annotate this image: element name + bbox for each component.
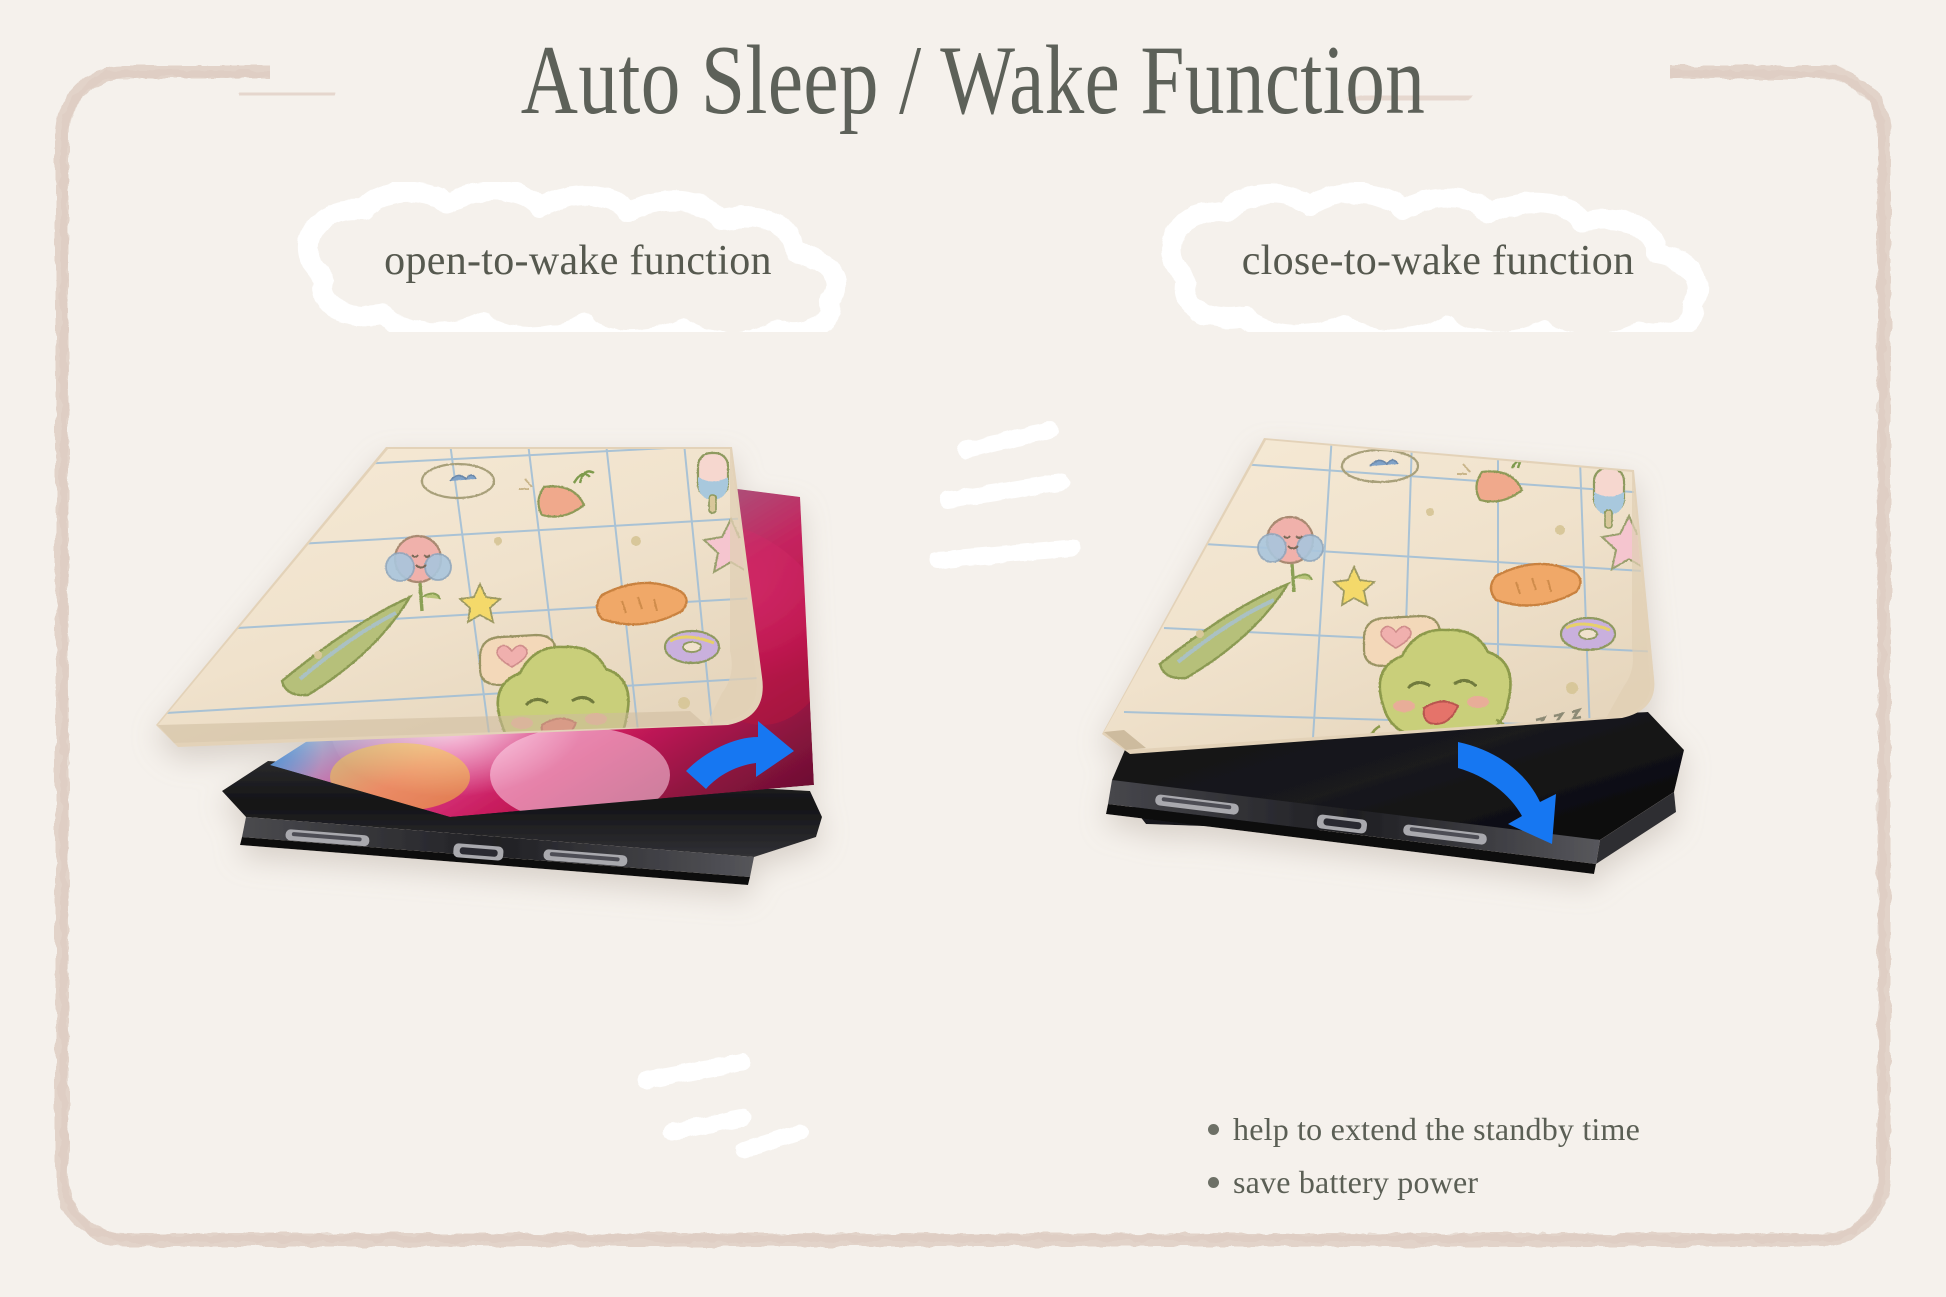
page-title: Auto Sleep / Wake Function: [195, 28, 1752, 135]
device-open-to-wake[interactable]: [150, 425, 890, 945]
doodle-donut: [1561, 618, 1615, 650]
infographic-canvas: Auto Sleep / Wake Function open-to-wake …: [0, 0, 1946, 1297]
device-close-to-wake[interactable]: [960, 420, 1720, 945]
list-item: save battery power: [1208, 1165, 1768, 1200]
label-close-to-wake: close-to-wake function: [1128, 182, 1748, 332]
benefits-list: help to extend the standby time save bat…: [1208, 1112, 1768, 1218]
list-item: help to extend the standby time: [1208, 1112, 1768, 1147]
benefit-text: help to extend the standby time: [1233, 1112, 1640, 1147]
bullet-dot-icon: [1208, 1177, 1219, 1188]
benefit-text: save battery power: [1233, 1165, 1478, 1200]
doodle-donut: [665, 631, 719, 663]
bullet-dot-icon: [1208, 1124, 1219, 1135]
label-open-to-wake-text: open-to-wake function: [268, 182, 888, 332]
label-open-to-wake: open-to-wake function: [268, 182, 888, 332]
brush-group-lower: [646, 1062, 800, 1150]
label-close-to-wake-text: close-to-wake function: [1128, 182, 1748, 332]
